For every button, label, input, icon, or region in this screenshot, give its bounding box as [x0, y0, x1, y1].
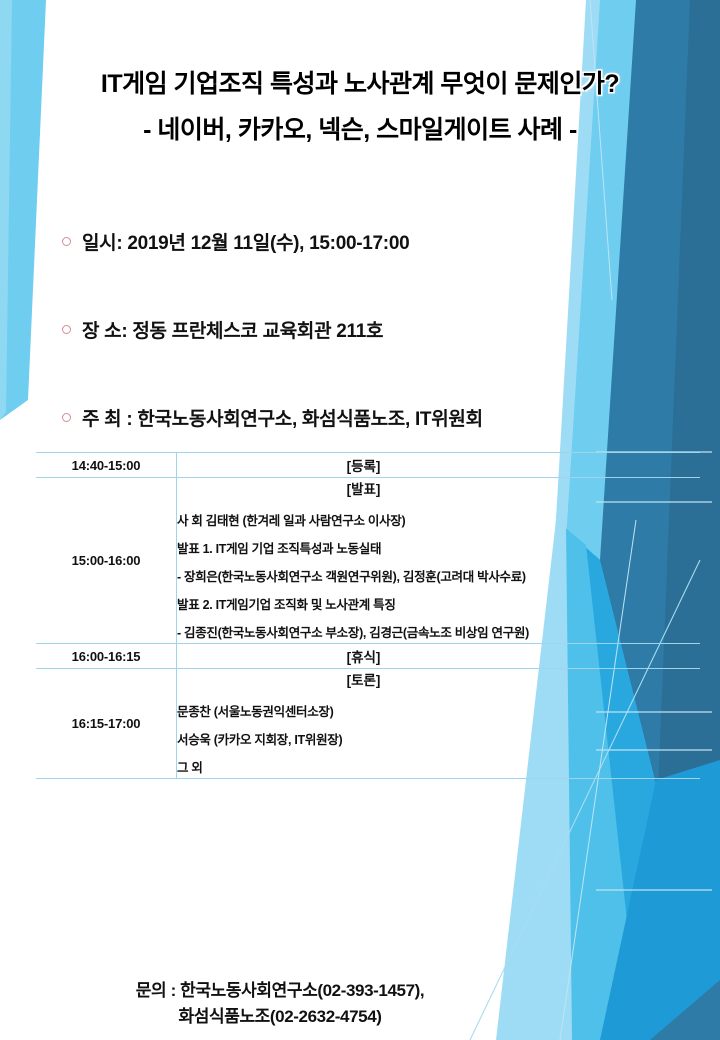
schedule-line-discussant-others: 그 외 [177, 757, 700, 776]
circle-bullet-icon [62, 413, 71, 422]
schedule-table: 14:40-15:00 [등록] 15:00-16:00 [발표] 사 회 김태… [36, 452, 700, 779]
schedule-content-registration: [등록] [177, 453, 701, 478]
info-item-location: 장 소: 정동 프란체스코 교육회관 211호 [62, 316, 662, 404]
table-row: 16:00-16:15 [휴식] [36, 644, 700, 669]
contact-line-2: 화섬식품노조(02-2632-4754) [0, 1004, 560, 1030]
schedule-line-discussant-2: 서승욱 (카카오 지회장, IT위원장) [177, 729, 700, 748]
table-row: 14:40-15:00 [등록] [36, 453, 700, 478]
schedule-heading-registration: [등록] [177, 453, 700, 477]
info-item-datetime-text: 일시: 2019년 12월 11일(수), 15:00-17:00 [82, 228, 409, 255]
title-line-subtitle: - 네이버, 카카오, 넥슨, 스마일게이트 사례 - [0, 118, 720, 143]
table-row: 15:00-16:00 [발표] 사 회 김태현 (한겨레 일과 사람연구소 이… [36, 478, 700, 644]
schedule-time-presentation: 15:00-16:00 [36, 478, 177, 644]
schedule-time-discussion: 16:15-17:00 [36, 669, 177, 779]
info-item-organizer-text: 주 최 : 한국노동사회연구소, 화섬식품노조, IT위원회 [82, 404, 483, 431]
schedule-content-presentation: [발표] 사 회 김태현 (한겨레 일과 사람연구소 이사장) 발표 1. IT… [177, 478, 701, 644]
info-item-location-text: 장 소: 정동 프란체스코 교육회관 211호 [82, 316, 383, 343]
contact-line-1: 문의 : 한국노동사회연구소(02-393-1457), [0, 978, 560, 1004]
circle-bullet-icon [62, 325, 71, 334]
contact-footer: 문의 : 한국노동사회연구소(02-393-1457), 화섬식품노조(02-2… [0, 978, 560, 1029]
schedule-line-moderator: 사 회 김태현 (한겨레 일과 사람연구소 이사장) [177, 510, 700, 529]
title-line-main: IT게임 기업조직 특성과 노사관계 무엇이 문제인가? [0, 72, 720, 97]
poster-title: IT게임 기업조직 특성과 노사관계 무엇이 문제인가? - 네이버, 카카오,… [0, 72, 720, 143]
schedule-content-discussion: [토론] 문종찬 (서울노동권익센터소장) 서승욱 (카카오 지회장, IT위원… [177, 669, 701, 779]
schedule-line-presentation-1-title: 발표 1. IT게임 기업 조직특성과 노동실태 [177, 538, 700, 557]
schedule-heading-discussion: [토론] [177, 669, 700, 689]
schedule-content-break: [휴식] [177, 644, 701, 669]
schedule-heading-break: [휴식] [177, 644, 700, 668]
schedule-line-presentation-2-title: 발표 2. IT게임기업 조직화 및 노사관계 특징 [177, 594, 700, 613]
info-item-datetime: 일시: 2019년 12월 11일(수), 15:00-17:00 [62, 228, 662, 316]
schedule-line-presentation-2-speakers: - 김종진(한국노동사회연구소 부소장), 김경근(금속노조 비상임 연구원) [177, 622, 700, 641]
event-poster: IT게임 기업조직 특성과 노사관계 무엇이 문제인가? - 네이버, 카카오,… [0, 0, 720, 1040]
schedule-time-registration: 14:40-15:00 [36, 453, 177, 478]
circle-bullet-icon [62, 237, 71, 246]
schedule-line-presentation-1-speakers: - 장희은(한국노동사회연구소 객원연구위원), 김정훈(고려대 박사수료) [177, 566, 700, 585]
schedule-heading-presentation: [발표] [177, 478, 700, 498]
schedule-time-break: 16:00-16:15 [36, 644, 177, 669]
schedule-line-discussant-1: 문종찬 (서울노동권익센터소장) [177, 701, 700, 720]
table-row: 16:15-17:00 [토론] 문종찬 (서울노동권익센터소장) 서승욱 (카… [36, 669, 700, 779]
